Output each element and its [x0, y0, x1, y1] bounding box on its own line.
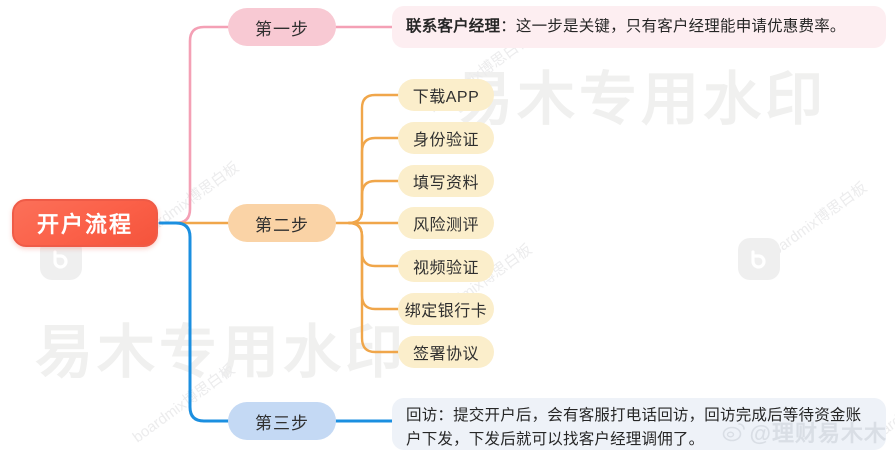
step-node-3[interactable]: 第三步 — [228, 402, 336, 440]
branch1-text-card[interactable]: 联系客户经理：这一步是关键，只有客户经理能申请优惠费率。 — [392, 6, 886, 48]
step-node-2[interactable]: 第二步 — [228, 204, 336, 242]
root-node[interactable]: 开户流程 — [12, 199, 158, 247]
mindmap-canvas: 易木专用水印 易木专用水印 boardmix博思白板 boardmix博思白板 … — [0, 0, 895, 455]
branch1-text-rest: ：这一步是关键，只有客户经理能申请优惠费率。 — [500, 18, 845, 35]
boardmix-logo-icon — [738, 238, 780, 280]
leaf-node-download-app[interactable]: 下载APP — [398, 79, 494, 111]
wire-step2-subtree — [336, 95, 398, 352]
leaf-node-fill-info[interactable]: 填写资料 — [398, 165, 494, 197]
leaf-node-sign-agreement[interactable]: 签署协议 — [398, 336, 494, 368]
leaf-node-bind-bank-card[interactable]: 绑定银行卡 — [398, 293, 494, 325]
leaf-node-risk-assessment[interactable]: 风险测评 — [398, 207, 494, 239]
wire-root-to-step1 — [160, 27, 228, 223]
branch1-text-bold: 联系客户经理 — [406, 18, 500, 35]
watermark-diagonal: boardmix博思白板 — [128, 358, 239, 447]
leaf-node-identity-verify[interactable]: 身份验证 — [398, 122, 494, 154]
leaf-node-video-verify[interactable]: 视频验证 — [398, 250, 494, 282]
wire-root-to-step3 — [160, 223, 228, 421]
step-node-1[interactable]: 第一步 — [228, 8, 336, 46]
watermark-diagonal: boardmix博思白板 — [760, 176, 871, 265]
watermark-big-top: 易木专用水印 — [455, 52, 827, 136]
branch3-text-card[interactable]: 回访：提交开户后，会有客服打电话回访，回访完成后等待资金账户下发，下发后就可以找… — [392, 398, 886, 450]
watermark-big-middle: 易木专用水印 — [35, 305, 407, 389]
